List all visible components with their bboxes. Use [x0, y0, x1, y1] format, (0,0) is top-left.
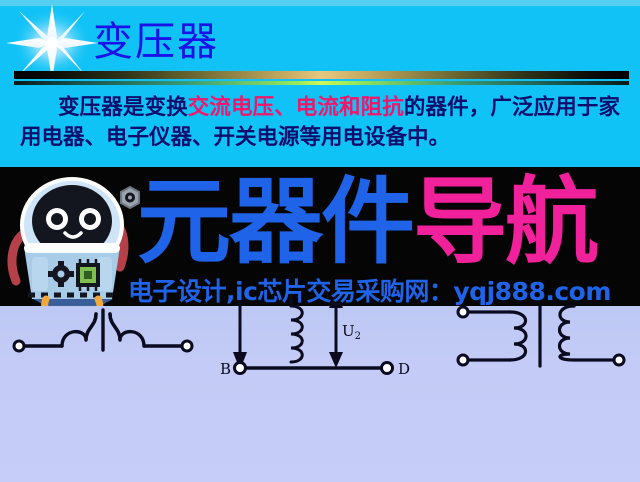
- label-voltage-u2: U2: [342, 322, 361, 342]
- watermark-brand-part1: 元器件: [137, 168, 413, 277]
- watermark-url: 电子设计,ic芯片交易采购网：yqj888.com: [128, 278, 611, 306]
- robot-mascot-icon: [2, 169, 144, 306]
- figures-area: B D U2: [0, 306, 640, 482]
- slide-canvas: 变压器 变压器是变换交流电压、电流和阻抗的器件，广泛应用于家用电器、电子仪器、开…: [0, 0, 640, 482]
- page-title: 变压器: [93, 18, 219, 66]
- title-divider: [14, 71, 629, 87]
- divider-bar-primary: [14, 71, 629, 79]
- label-terminal-b: B: [220, 360, 231, 378]
- body-paragraph: 变压器是变换交流电压、电流和阻抗的器件，广泛应用于家用电器、电子仪器、开关电源等…: [20, 93, 620, 153]
- watermark-brand-part2: 导航: [413, 168, 597, 277]
- body-lead-text: 变压器是变换: [58, 95, 188, 120]
- figure-power-transformer: [8, 298, 198, 378]
- figure-adjustable-core-transformer: [452, 298, 634, 378]
- body-highlight-text: 交流电压、电流和阻抗: [188, 95, 404, 120]
- starburst-icon: [6, 4, 98, 80]
- divider-bar-secondary: [14, 81, 629, 85]
- watermark-brand: 元器件导航: [137, 171, 597, 275]
- label-terminal-d: D: [398, 360, 410, 378]
